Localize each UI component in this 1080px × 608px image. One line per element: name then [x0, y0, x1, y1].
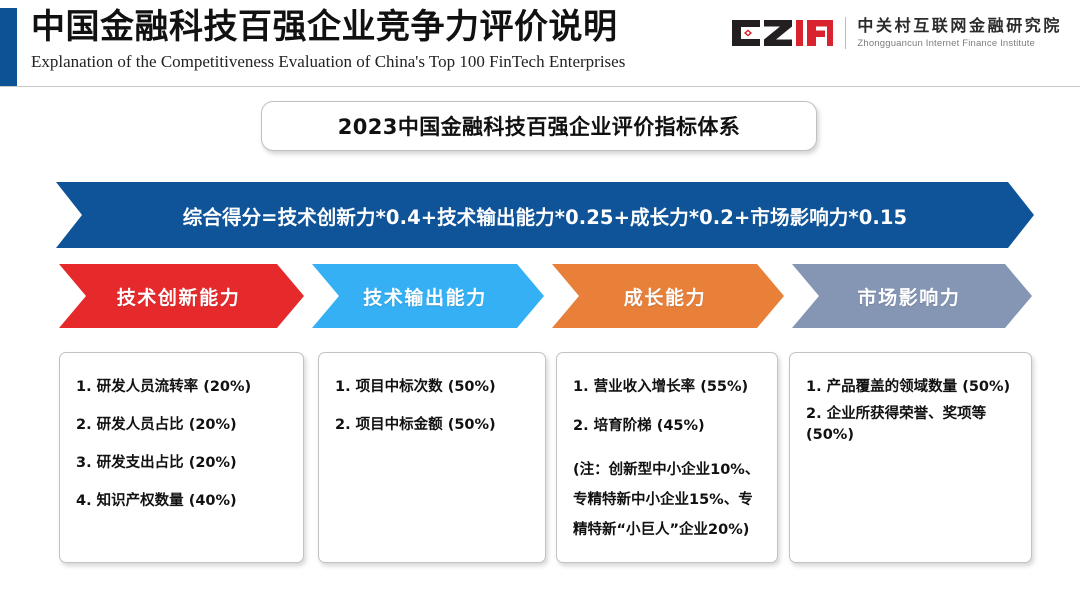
detail-card-innovation: 1. 研发人员流转率 (20%)2. 研发人员占比 (20%)3. 研发支出占比… [59, 352, 304, 563]
logo-divider [845, 17, 846, 49]
page-subtitle-english: Explanation of the Competitiveness Evalu… [31, 50, 731, 74]
pillar-chevron-output: 技术输出能力 [312, 264, 544, 328]
header-divider-rule [0, 86, 1080, 87]
pillar-chevron-innovation: 技术创新能力 [59, 264, 304, 328]
czifi-logo-icon [730, 18, 834, 48]
score-formula-banner: 综合得分=技术创新力*0.4+技术输出能力*0.25+成长力*0.2+市场影响力… [56, 182, 1034, 248]
score-formula-text: 综合得分=技术创新力*0.4+技术输出能力*0.25+成长力*0.2+市场影响力… [183, 201, 907, 230]
page-header: 中国金融科技百强企业竞争力评价说明 Explanation of the Com… [0, 0, 1080, 86]
card-item: 2. 项目中标金额 (50%) [335, 415, 531, 436]
header-text-group: 中国金融科技百强企业竞争力评价说明 Explanation of the Com… [31, 6, 731, 74]
page-title: 中国金融科技百强企业竞争力评价说明 [31, 6, 731, 48]
index-system-title-box: 2023中国金融科技百强企业评价指标体系 [261, 101, 817, 151]
card-item: 1. 产品覆盖的领域数量 (50%) [806, 377, 1017, 398]
detail-card-growth: 1. 营业收入增长率 (55%)2. 培育阶梯 (45%)(注：创新型中小企业1… [556, 352, 778, 563]
card-item: 1. 研发人员流转率 (20%) [76, 377, 289, 398]
pillar-chevron-row: 技术创新能力 技术输出能力 成长能力 市场影响力 [0, 264, 1080, 328]
card-item: 2. 企业所获得荣誉、奖项等 (50%) [806, 404, 1017, 446]
index-system-title-text: 2023中国金融科技百强企业评价指标体系 [338, 111, 740, 141]
card-item: 3. 研发支出占比 (20%) [76, 453, 289, 474]
pillar-label: 成长能力 [624, 283, 712, 310]
card-item: 1. 营业收入增长率 (55%) [573, 377, 763, 398]
pillar-chevron-market: 市场影响力 [792, 264, 1032, 328]
detail-card-market: 1. 产品覆盖的领域数量 (50%)2. 企业所获得荣誉、奖项等 (50%) [789, 352, 1032, 563]
pillar-label: 技术创新能力 [117, 283, 247, 310]
logo-name-english: Zhongguancun Internet Finance Institute [857, 39, 1062, 49]
card-item: 2. 研发人员占比 (20%) [76, 415, 289, 436]
card-item: 4. 知识产权数量 (40%) [76, 491, 289, 512]
pillar-chevron-growth: 成长能力 [552, 264, 784, 328]
header-accent-bar [0, 8, 17, 86]
pillar-label: 技术输出能力 [363, 283, 493, 310]
institute-logo: 中关村互联网金融研究院 Zhongguancun Internet Financ… [730, 12, 1062, 54]
logo-name-chinese: 中关村互联网金融研究院 [857, 18, 1062, 34]
card-item: 1. 项目中标次数 (50%) [335, 377, 531, 398]
logo-wordmark: 中关村互联网金融研究院 Zhongguancun Internet Financ… [857, 18, 1062, 49]
pillar-label: 市场影响力 [857, 283, 966, 310]
card-note: (注：创新型中小企业10%、专精特新中小企业15%、专精特新“小巨人”企业20%… [573, 455, 763, 545]
detail-card-output: 1. 项目中标次数 (50%)2. 项目中标金额 (50%) [318, 352, 546, 563]
card-item: 2. 培育阶梯 (45%) [573, 416, 763, 437]
detail-card-row: 1. 研发人员流转率 (20%)2. 研发人员占比 (20%)3. 研发支出占比… [0, 352, 1080, 567]
